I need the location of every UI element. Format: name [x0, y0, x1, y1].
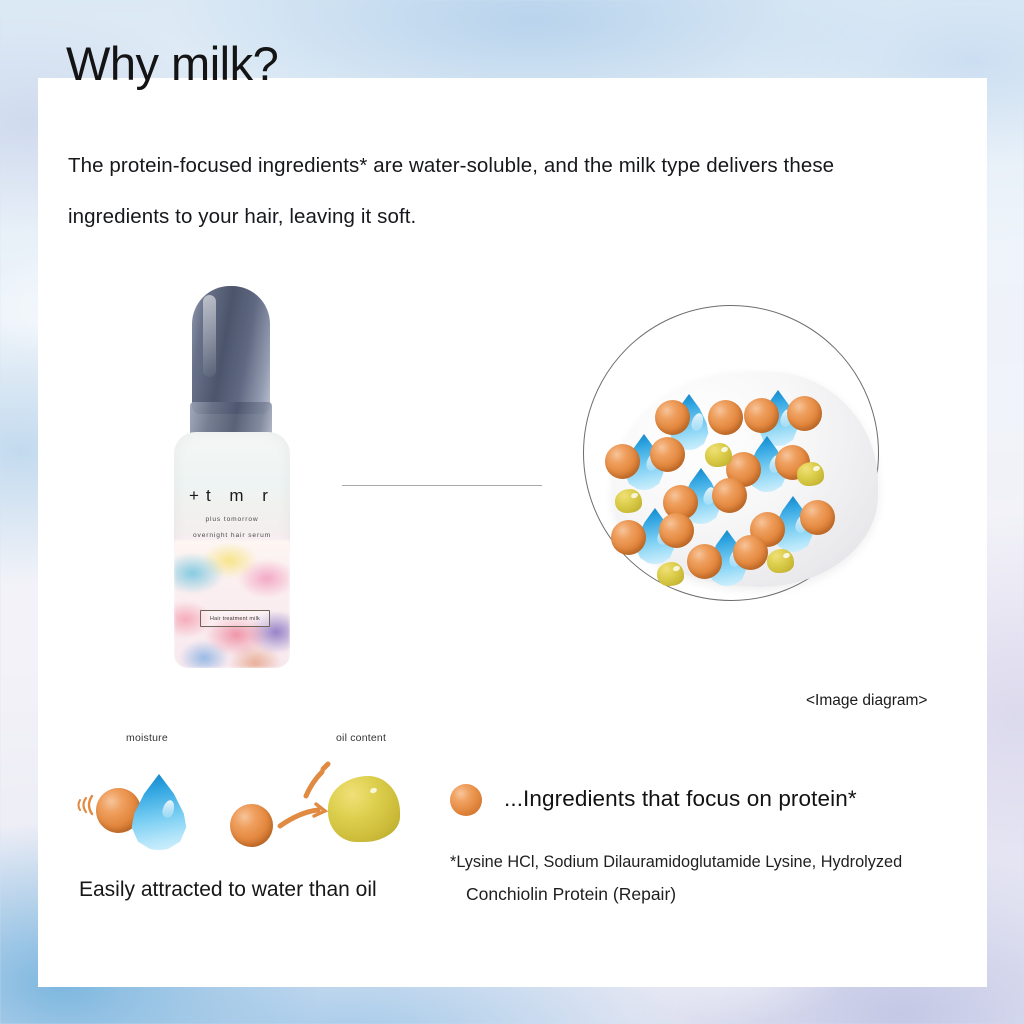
- bottle-body: +t m r plus tomorrow overnight hair seru…: [174, 432, 290, 668]
- protein-sphere: [687, 544, 722, 579]
- protein-sphere: [744, 398, 779, 433]
- protein-sphere: [655, 400, 690, 435]
- protein-sphere: [611, 520, 646, 555]
- oil-blob: [657, 562, 684, 586]
- protein-sphere: [733, 535, 768, 570]
- product-bottle: +t m r plus tomorrow overnight hair seru…: [168, 286, 296, 668]
- legend-label-moisture: moisture: [126, 732, 168, 744]
- bottle-watercolor-pattern: [174, 540, 290, 668]
- attraction-icon: [76, 766, 196, 850]
- legend-label-oil: oil content: [336, 732, 386, 744]
- protein-sphere: [708, 400, 743, 435]
- protein-sphere: [712, 478, 747, 513]
- callout-connector-line: [342, 485, 542, 486]
- legend-caption: Easily attracted to water than oil: [79, 878, 377, 902]
- oil-blob: [767, 549, 794, 573]
- bottle-cap-dome: [192, 286, 270, 414]
- diagram-caption: <Image diagram>: [806, 692, 928, 710]
- motion-lines-icon: [76, 792, 98, 818]
- oil-blob: [705, 443, 732, 467]
- bottle-subtitle-product: overnight hair serum: [174, 532, 290, 539]
- footnote-line-2: Conchiolin Protein (Repair): [466, 878, 960, 910]
- footnote-line-1: *Lysine HCl, Sodium Dilauramidoglutamide…: [450, 853, 902, 871]
- oil-blob: [615, 489, 642, 513]
- protein-headline: ...Ingredients that focus on protein*: [504, 786, 857, 812]
- oil-blob: [328, 776, 400, 842]
- protein-sphere: [800, 500, 835, 535]
- protein-sphere: [650, 437, 685, 472]
- bottle-logo: +t m r: [174, 486, 290, 506]
- protein-sphere: [659, 513, 694, 548]
- bottle-type-badge: Hair treatment milk: [200, 610, 270, 627]
- oil-blob: [797, 462, 824, 486]
- poster-root: Why milk? The protein-focused ingredient…: [0, 0, 1024, 1024]
- protein-footnote: *Lysine HCl, Sodium Dilauramidoglutamide…: [450, 846, 960, 910]
- protein-sphere: [787, 396, 822, 431]
- bottle-subtitle-brand: plus tomorrow: [174, 516, 290, 523]
- lead-paragraph: The protein-focused ingredients* are wat…: [68, 140, 888, 242]
- protein-sphere-bullet-icon: [450, 784, 482, 816]
- protein-sphere: [605, 444, 640, 479]
- repulsion-icon: [224, 760, 404, 852]
- water-droplet: [128, 774, 190, 850]
- page-title: Why milk?: [66, 40, 278, 87]
